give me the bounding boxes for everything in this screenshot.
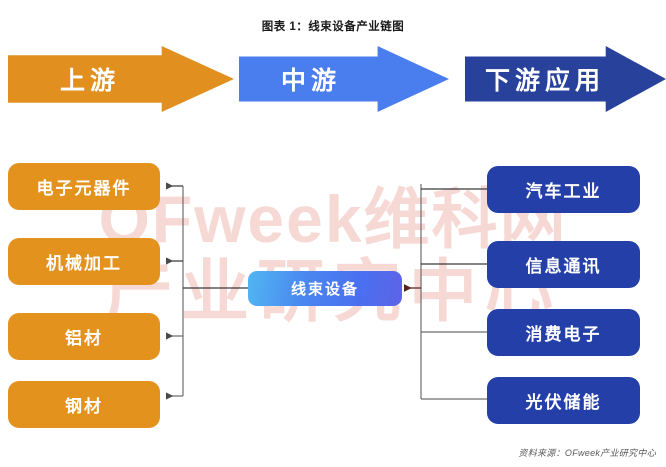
downstream-node-4[interactable]: 光伏储能 bbox=[487, 377, 640, 424]
banner-midstream-label: 中游 bbox=[281, 61, 449, 97]
downstream-node-1-label: 汽车工业 bbox=[526, 177, 602, 202]
downstream-node-1[interactable]: 汽车工业 bbox=[487, 166, 640, 213]
upstream-node-2-label: 机械加工 bbox=[46, 249, 122, 274]
downstream-node-3-label: 消费电子 bbox=[526, 320, 602, 345]
upstream-node-1-label: 电子元器件 bbox=[37, 174, 132, 199]
banner-downstream: 下游应用 bbox=[465, 46, 666, 112]
downstream-node-3[interactable]: 消费电子 bbox=[487, 309, 640, 356]
upstream-node-1[interactable]: 电子元器件 bbox=[8, 163, 160, 210]
banner-downstream-label: 下游应用 bbox=[485, 61, 666, 97]
banner-midstream: 中游 bbox=[239, 46, 449, 112]
chart-canvas: 图表 1：线束设备产业链图 OFweek维科网 产业研究中心 上游 中游 下游应… bbox=[0, 0, 666, 467]
upstream-node-3[interactable]: 铝材 bbox=[8, 313, 160, 360]
banner-upstream-label: 上游 bbox=[60, 61, 234, 97]
source-note: 资料来源：OFweek产业研究中心 bbox=[518, 446, 656, 459]
banner-upstream: 上游 bbox=[8, 46, 234, 112]
midstream-node-label: 线束设备 bbox=[291, 278, 359, 299]
upstream-node-4[interactable]: 钢材 bbox=[8, 381, 160, 428]
downstream-node-2[interactable]: 信息通讯 bbox=[487, 241, 640, 288]
page-title: 图表 1：线束设备产业链图 bbox=[0, 18, 666, 34]
upstream-node-3-label: 铝材 bbox=[65, 324, 103, 349]
upstream-node-4-label: 钢材 bbox=[65, 392, 103, 417]
downstream-node-2-label: 信息通讯 bbox=[526, 252, 602, 277]
downstream-node-4-label: 光伏储能 bbox=[526, 388, 602, 413]
midstream-node[interactable]: 线束设备 bbox=[248, 271, 402, 306]
upstream-node-2[interactable]: 机械加工 bbox=[8, 238, 160, 285]
